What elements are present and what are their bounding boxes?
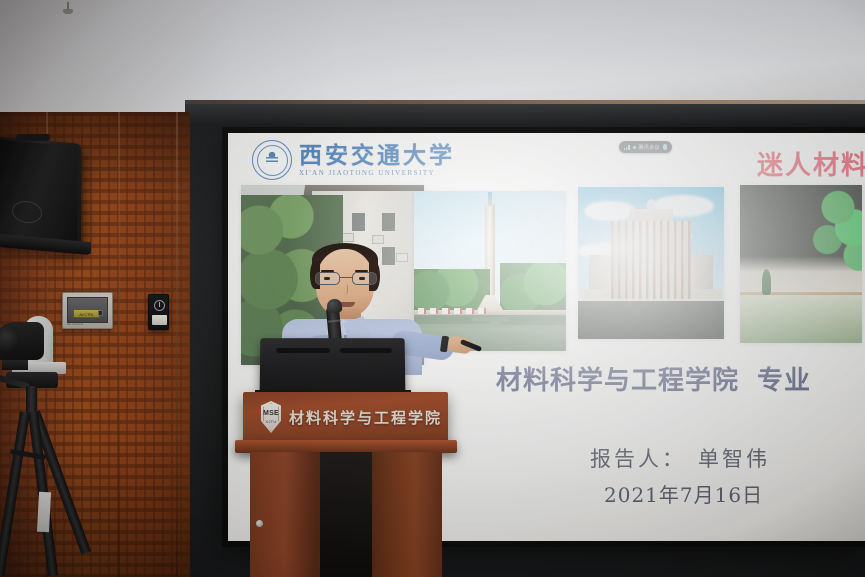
university-name-cn: 西安交通大学 xyxy=(299,144,455,167)
speaker-grille xyxy=(0,139,77,246)
wall-seam xyxy=(176,112,178,577)
podium-center-panel xyxy=(320,452,372,577)
air-conditioner-unit xyxy=(342,233,354,242)
window xyxy=(382,213,395,231)
control-panel-display: AV CTRL xyxy=(73,309,100,318)
signal-bars-icon xyxy=(624,144,630,150)
control-panel-caption: AV Control xyxy=(67,322,83,326)
foreground-shadow xyxy=(578,301,724,339)
emblem-main-text: MSE xyxy=(263,410,279,418)
presenter-name: 单智伟 xyxy=(698,447,770,471)
building-windows xyxy=(611,221,691,303)
nose xyxy=(342,285,348,295)
shrub xyxy=(762,269,771,295)
microphone-head-icon xyxy=(326,298,342,313)
tree-foliage xyxy=(796,189,862,281)
window xyxy=(352,213,365,231)
fire-sprinkler-icon xyxy=(63,2,73,16)
lawn xyxy=(740,295,862,343)
presentation-date: 2021年7月16日 xyxy=(604,479,770,508)
emblem-sub-text: XJTU xyxy=(265,419,276,424)
building-tower xyxy=(611,221,691,303)
presenter-line: 报告人：单智伟 xyxy=(590,443,770,473)
av-control-panel[interactable]: AV CTRL AV Control xyxy=(62,292,113,329)
university-logo-text: 西安交通大学 XI'AN JIAOTONG UNIVERSITY xyxy=(299,144,455,177)
control-panel-display-text: AV CTRL xyxy=(74,310,99,317)
eye xyxy=(324,277,330,280)
presenter-label: 报告人： xyxy=(590,447,686,471)
laptop-vent xyxy=(340,348,392,353)
status-dot-icon xyxy=(633,146,636,149)
slide-title-second: 专业 xyxy=(757,366,811,396)
university-name-en: XI'AN JIAOTONG UNIVERSITY xyxy=(299,170,455,177)
slide-title: 材料科学与工程学院专业 xyxy=(496,360,811,397)
wall-light-line xyxy=(185,100,865,104)
camera-mount-plate xyxy=(2,360,28,370)
glasses-bridge xyxy=(340,277,352,278)
control-panel-face: AV CTRL xyxy=(67,297,108,323)
lecture-hall-photo: AV CTRL AV Control 西安交通大学 XI'AN JIAOTONG… xyxy=(0,0,865,577)
slide-presenter-block: 报告人：单智伟 2021年7月16日 xyxy=(590,443,770,508)
laptop-vent xyxy=(276,348,330,353)
slide-photo-main-building xyxy=(578,187,724,339)
podium-sign: MSE XJTU 材料科学与工程学院 xyxy=(256,399,442,435)
eye xyxy=(359,277,365,280)
slide-title-main: 材料科学与工程学院 xyxy=(496,366,739,396)
podium-label: 材料科学与工程学院 xyxy=(289,407,442,428)
thermostat-button[interactable] xyxy=(152,315,167,325)
control-panel-button[interactable] xyxy=(98,310,103,316)
microphone-icon xyxy=(663,144,667,150)
podium-knob[interactable] xyxy=(256,520,263,527)
university-logo: 西安交通大学 XI'AN JIAOTONG UNIVERSITY xyxy=(252,140,455,180)
slide-headline-red: 迷人材料 xyxy=(757,145,865,182)
university-seal-icon xyxy=(252,140,292,180)
slide-photo-landscape xyxy=(740,185,862,343)
presenter-laptop[interactable] xyxy=(260,338,406,392)
wall-seam xyxy=(118,112,120,577)
wall-thermostat[interactable] xyxy=(148,294,169,330)
meeting-status-badge: 腾讯会议 xyxy=(619,141,672,153)
speaker-bracket xyxy=(16,134,50,141)
meeting-badge-label: 腾讯会议 xyxy=(639,144,660,151)
equipment-tag xyxy=(37,492,51,533)
thermostat-dial-icon[interactable] xyxy=(154,300,165,311)
mse-shield-emblem: MSE XJTU xyxy=(261,401,281,433)
